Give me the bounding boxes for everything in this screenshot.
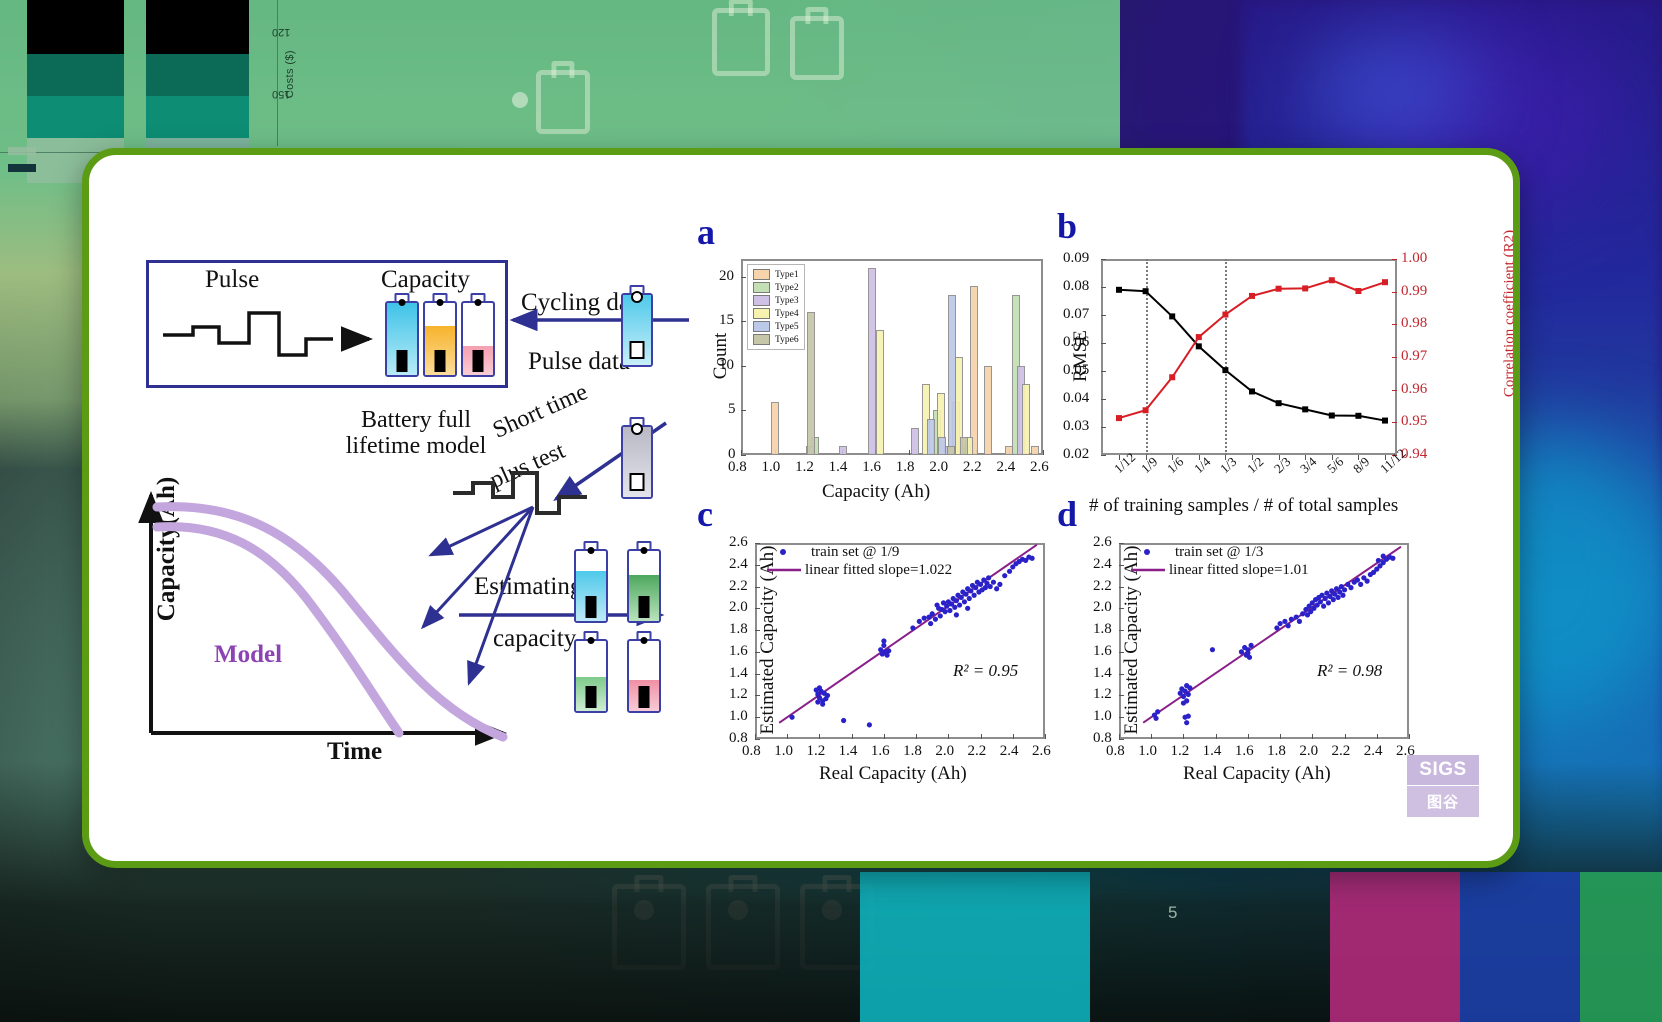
- panel-d-legend-label-2: linear fitted slope=1.01: [1169, 562, 1309, 579]
- battery-dot: [399, 299, 406, 306]
- panel-d-ytick-label: 1.0: [1093, 708, 1112, 725]
- panel-d-xtick-mark: [1345, 734, 1346, 739]
- sigs-logo: SIGS 图谷: [1407, 755, 1479, 817]
- panel-c-ytick-mark: [755, 674, 760, 675]
- panel-c-xtick-label: 2.6: [1032, 743, 1051, 760]
- battery-icon-pink-1: [461, 293, 495, 377]
- panel-c-xtick-mark: [916, 734, 917, 739]
- panel-d-r2-annotation: R² = 0.98: [1317, 661, 1382, 681]
- panel-c-ytick-label: 2.0: [729, 599, 748, 616]
- panel-a-legend-swatch: [753, 334, 770, 345]
- panel-a-legend-label: Type5: [775, 322, 799, 332]
- ghost-battery-dot-1: [512, 92, 528, 108]
- content-card: Pulse Capacity Cycling data Pulse data B…: [82, 148, 1520, 868]
- panel-d-ytick-mark: [1119, 608, 1124, 609]
- panel-d-ytick-mark: [1119, 674, 1124, 675]
- panel-a-letter: a: [697, 211, 715, 253]
- panel-c-ytick-label: 2.4: [729, 556, 748, 573]
- panel-d-xtick-mark: [1409, 734, 1410, 739]
- battery-block: [586, 686, 597, 708]
- panel-a-ytick-label: 5: [728, 401, 736, 418]
- panel-d-xtick-label: 2.2: [1332, 743, 1351, 760]
- mini-chart-ylabel: Costs ($): [284, 50, 296, 98]
- battery-block: [639, 686, 650, 708]
- panel-a-xtick-label: 2.2: [963, 459, 982, 476]
- panel-d-xtick-mark: [1377, 734, 1378, 739]
- panel-c-xtick-mark: [787, 734, 788, 739]
- panel-c-ytick-mark: [755, 695, 760, 696]
- panel-d-xtick-mark: [1183, 734, 1184, 739]
- panel-d-ytick-label: 1.6: [1093, 643, 1112, 660]
- panel-a-xtick-label: 2.6: [1030, 459, 1049, 476]
- panel-a-xtick-label: 1.8: [896, 459, 915, 476]
- panel-d-xtick-mark: [1280, 734, 1281, 739]
- panel-a-ytick-label: 15: [719, 312, 734, 329]
- panel-d-ytick-label: 0.8: [1093, 730, 1112, 747]
- panel-c-ytick-mark: [755, 543, 760, 544]
- panel-b-xtick-label: 3/4: [1297, 454, 1320, 477]
- panel-b-ytick-mark: [1101, 287, 1106, 288]
- panel-d-xtick-label: 1.0: [1138, 743, 1157, 760]
- panel-c-ytick-label: 1.2: [729, 686, 748, 703]
- panel-a-bar: [1022, 384, 1030, 455]
- panel-a-xtick-label: 1.6: [862, 459, 881, 476]
- panel-c-r2-annotation: R² = 0.95: [953, 661, 1018, 681]
- panel-b-y2tick-label: 0.99: [1401, 283, 1427, 300]
- panel-a-bar: [948, 295, 956, 455]
- panel-c-ytick-label: 1.6: [729, 643, 748, 660]
- panel-d-legend-label-1: train set @ 1/3: [1175, 544, 1263, 561]
- panel-b-xtick-label: 5/6: [1324, 454, 1347, 477]
- panel-c-xtick-mark: [884, 734, 885, 739]
- panel-b-ytick-mark: [1101, 455, 1106, 456]
- mini-chart-bar-teal-2: [146, 54, 249, 96]
- mini-chart-bar-teal-3: [27, 96, 124, 138]
- panel-a-bar: [911, 428, 919, 455]
- panel-b-y2tick-mark: [1392, 324, 1397, 325]
- panel-a-ytick-mark: [741, 410, 746, 411]
- panel-a-legend-label: Type6: [775, 335, 799, 345]
- battery-square: [630, 473, 645, 491]
- battery-block: [435, 350, 446, 372]
- ghost-battery-icon-3: [536, 70, 590, 134]
- panel-c-xtick-mark: [1045, 734, 1046, 739]
- panel-a-legend-label: Type2: [775, 283, 799, 293]
- panel-a-xtick-label: 1.4: [829, 459, 848, 476]
- panel-c-xtick-label: 1.6: [871, 743, 890, 760]
- slide-number: 5: [1168, 903, 1177, 923]
- panel-a-legend-row: Type1: [753, 268, 799, 281]
- panel-b-xtick-label: 8/9: [1350, 454, 1373, 477]
- panel-b-xlabel: # of training samples / # of total sampl…: [1089, 495, 1398, 517]
- mini-chart-legend-sw-2: [8, 164, 36, 172]
- panel-c-xtick-label: 2.2: [968, 743, 987, 760]
- panel-d-ytick-mark: [1119, 695, 1124, 696]
- panel-c-ytick-label: 2.2: [729, 578, 748, 595]
- panel-d-ytick-label: 2.6: [1093, 534, 1112, 551]
- panel-b-y2tick-mark: [1392, 390, 1397, 391]
- panel-a-legend-row: Type2: [753, 281, 799, 294]
- panel-a-xlabel: Capacity (Ah): [822, 481, 930, 503]
- panel-a-ytick-mark: [741, 321, 746, 322]
- panel-a-bar: [839, 446, 847, 455]
- panel-b-y2tick-mark: [1392, 422, 1397, 423]
- panel-a-ytick-label: 10: [719, 357, 734, 374]
- panel-a-xtick-mark: [1043, 450, 1044, 455]
- panel-b-ytick-mark: [1101, 371, 1106, 372]
- panel-a-legend-row: Type5: [753, 320, 799, 333]
- battery-icon-blue-1: [385, 293, 419, 377]
- panel-d-xtick-label: 1.6: [1235, 743, 1254, 760]
- panel-c-xtick-mark: [981, 734, 982, 739]
- panel-a-ytick-mark: [741, 455, 746, 456]
- panel-c-legend-label-2: linear fitted slope=1.022: [805, 562, 952, 579]
- battery-dot: [641, 547, 648, 554]
- panel-a-legend-swatch: [753, 321, 770, 332]
- mini-chart-bar-dark-1: [27, 0, 124, 54]
- panel-d-legend-line: [1131, 565, 1171, 575]
- battery-block: [639, 596, 650, 618]
- panel-c-xtick-label: 1.8: [903, 743, 922, 760]
- panel-d-xtick-mark: [1312, 734, 1313, 739]
- panel-b-ytick-mark: [1101, 259, 1106, 260]
- panel-c-ytick-mark: [755, 587, 760, 588]
- panel-c-ytick-mark: [755, 739, 760, 740]
- panel-a-bar: [771, 402, 779, 455]
- panel-c-legend-line: [767, 565, 807, 575]
- panel-c-xtick-mark: [819, 734, 820, 739]
- battery-icon-blue-2: [574, 541, 608, 623]
- panel-b-ytick-label: 0.06: [1063, 334, 1089, 351]
- panel-d-ytick-label: 1.8: [1093, 621, 1112, 638]
- panel-b-y2tick-label: 0.95: [1401, 413, 1427, 430]
- battery-dot: [641, 637, 648, 644]
- panel-b-letter: b: [1057, 205, 1077, 247]
- panel-b-y2tick-label: 0.98: [1401, 315, 1427, 332]
- panel-b-ytick-label: 0.05: [1063, 362, 1089, 379]
- panel-b-xtick-label: 1/3: [1217, 454, 1240, 477]
- panel-c-xtick-label: 1.0: [774, 743, 793, 760]
- panel-c-ytick-mark: [755, 717, 760, 718]
- mini-chart-legend-sw-1: [8, 147, 36, 155]
- panel-c-ytick-mark: [755, 630, 760, 631]
- mini-chart-axis: [277, 0, 278, 146]
- panel-c-xtick-label: 2.0: [935, 743, 954, 760]
- ghost-battery-icon-2: [790, 16, 844, 80]
- panel-b-ytick-label: 0.03: [1063, 418, 1089, 435]
- background-color-strip-teal: [860, 872, 1090, 1022]
- panel-d-ytick-mark: [1119, 630, 1124, 631]
- panel-b-ytick-mark: [1101, 399, 1106, 400]
- battery-icon-orange-1: [423, 293, 457, 377]
- panel-d-xtick-label: 1.2: [1170, 743, 1189, 760]
- panel-a-legend-row: Type6: [753, 333, 799, 346]
- panel-d-ytick-label: 2.2: [1093, 578, 1112, 595]
- panel-b-xtick-label: 1/6: [1164, 454, 1187, 477]
- panel-c-xtick-mark: [852, 734, 853, 739]
- panel-a-legend-swatch: [753, 295, 770, 306]
- panel-c-ytick-mark: [755, 608, 760, 609]
- panel-b-y2tick-label: 0.97: [1401, 348, 1427, 365]
- panel-d-ytick-mark: [1119, 543, 1124, 544]
- battery-icon-cyan-source: [621, 285, 653, 367]
- battery-block: [586, 596, 597, 618]
- battery-block: [473, 350, 484, 372]
- panel-c-xtick-label: 2.4: [1000, 743, 1019, 760]
- panel-d-xlabel: Real Capacity (Ah): [1183, 763, 1331, 785]
- panel-b-ytick-label: 0.07: [1063, 306, 1089, 323]
- panel-d-ytick-label: 1.4: [1093, 665, 1112, 682]
- panel-a-ytick-label: 0: [728, 446, 736, 463]
- panel-b-y2tick-mark: [1392, 259, 1397, 260]
- battery-dot: [475, 299, 482, 306]
- sigs-logo-text-bottom: 图谷: [1407, 786, 1479, 817]
- battery-dot: [588, 637, 595, 644]
- panel-b-xtick-label: 2/3: [1271, 454, 1294, 477]
- panel-c-ytick-label: 1.0: [729, 708, 748, 725]
- panel-a-bar: [868, 268, 876, 455]
- ghost-battery-icon-1: [712, 8, 770, 76]
- panel-c-xlabel: Real Capacity (Ah): [819, 763, 967, 785]
- panel-d-ytick-label: 2.0: [1093, 599, 1112, 616]
- panel-c-ytick-mark: [755, 565, 760, 566]
- panel-b-ylabel: RMSE: [1070, 316, 1092, 396]
- panel-a-bar: [876, 330, 884, 455]
- panel-a-xtick-label: 2.4: [996, 459, 1015, 476]
- panel-d-legend-marker: [1143, 547, 1155, 557]
- panel-d-xtick-label: 2.0: [1299, 743, 1318, 760]
- panel-d-ytick-mark: [1119, 652, 1124, 653]
- panel-b-ytick-mark: [1101, 427, 1106, 428]
- panel-d-letter: d: [1057, 493, 1077, 535]
- panel-a-legend-swatch: [753, 308, 770, 319]
- battery-icon-green-1: [627, 541, 661, 623]
- panel-a-legend-row: Type3: [753, 294, 799, 307]
- background-color-strip-green: [1580, 872, 1662, 1022]
- panel-a-legend-row: Type4: [753, 307, 799, 320]
- battery-dot: [437, 299, 444, 306]
- panel-c-ytick-mark: [755, 652, 760, 653]
- panel-c-ytick-label: 2.6: [729, 534, 748, 551]
- panel-d-ytick-mark: [1119, 739, 1124, 740]
- panel-b-reference-line: [1146, 259, 1148, 455]
- panel-a-legend-swatch: [753, 269, 770, 280]
- mini-chart-bar-dark-2: [146, 0, 249, 54]
- battery-icon-gray-source: [621, 417, 653, 499]
- panel-d-ytick-label: 2.4: [1093, 556, 1112, 573]
- panel-b-ytick-label: 0.08: [1063, 278, 1089, 295]
- panel-a-legend-label: Type1: [775, 270, 799, 280]
- battery-square: [630, 341, 645, 359]
- panel-a-bar: [970, 286, 978, 455]
- panel-c-xtick-label: 1.2: [806, 743, 825, 760]
- battery-icon-green-2: [574, 631, 608, 713]
- panel-b-y2label: Correlation coefficient (R2): [1502, 199, 1519, 429]
- panel-b-y2tick-mark: [1392, 357, 1397, 358]
- panel-c-ytick-label: 0.8: [729, 730, 748, 747]
- schematic-diagram: Pulse Capacity Cycling data Pulse data B…: [101, 155, 691, 861]
- panel-b-xtick-label: 1/9: [1138, 454, 1161, 477]
- panel-c-xtick-label: 1.4: [839, 743, 858, 760]
- panel-b-ytick-mark: [1101, 343, 1106, 344]
- battery-ring: [631, 423, 643, 435]
- schematic-vectors: [101, 155, 691, 861]
- panel-b-xtick-label: 1/4: [1191, 454, 1214, 477]
- panel-b-ytick-mark: [1101, 315, 1106, 316]
- panel-c-ytick-label: 1.8: [729, 621, 748, 638]
- battery-dot: [588, 547, 595, 554]
- panel-a-xtick-label: 1.2: [795, 459, 814, 476]
- background-glow-blue: [1300, 30, 1480, 150]
- panel-a-xtick-label: 1.0: [762, 459, 781, 476]
- panel-b-y2tick-mark: [1392, 292, 1397, 293]
- panel-b-ytick-label: 0.04: [1063, 390, 1089, 407]
- panel-c-legend-marker: [779, 547, 791, 557]
- panel-d-ylabel: Estimated Capacity (Ah): [1121, 525, 1143, 755]
- panel-c-xtick-mark: [1013, 734, 1014, 739]
- panel-b-y2tick-label: 1.00: [1401, 250, 1427, 267]
- battery-ring: [631, 291, 643, 303]
- panel-a-xtick-mark: [909, 450, 910, 455]
- panel-d-xtick-mark: [1151, 734, 1152, 739]
- panel-d-ytick-mark: [1119, 587, 1124, 588]
- panel-a-xtick-label: 2.0: [929, 459, 948, 476]
- mini-chart-tick-120: 120: [272, 26, 290, 38]
- panel-a-bar: [927, 419, 935, 455]
- panel-b-xtick-label: 1/2: [1244, 454, 1267, 477]
- panel-b-ytick-label: 0.02: [1063, 446, 1089, 463]
- battery-icon-pink-2: [627, 631, 661, 713]
- panel-a-ytick-mark: [741, 277, 746, 278]
- panel-a-legend: Type1Type2Type3Type4Type5Type6: [747, 264, 805, 350]
- mini-chart-bar-teal-1: [27, 54, 124, 96]
- panel-c-ylabel: Estimated Capacity (Ah): [757, 525, 779, 755]
- panel-a-bar: [984, 366, 992, 455]
- panel-a-bar: [807, 312, 815, 455]
- panel-b-reference-line: [1225, 259, 1227, 455]
- panel-a-bar: [1031, 446, 1039, 455]
- panel-c-ytick-label: 1.4: [729, 665, 748, 682]
- panel-d-xtick-mark: [1248, 734, 1249, 739]
- battery-block: [397, 350, 408, 372]
- panel-d-xtick-label: 2.4: [1364, 743, 1383, 760]
- panel-b-ytick-label: 0.09: [1063, 250, 1089, 267]
- panel-b-y2tick-label: 0.96: [1401, 381, 1427, 398]
- mini-chart-bar-teal-4: [146, 96, 249, 138]
- panel-d-xtick-mark: [1216, 734, 1217, 739]
- panel-a-bar: [947, 446, 955, 455]
- panel-d-xtick-label: 1.4: [1203, 743, 1222, 760]
- panel-a-legend-label: Type3: [775, 296, 799, 306]
- panel-c-letter: c: [697, 493, 713, 535]
- background-color-strip-blue: [1460, 872, 1580, 1022]
- panel-a-ytick-label: 20: [719, 268, 734, 285]
- panel-a-legend-label: Type4: [775, 309, 799, 319]
- panel-c-legend-label-1: train set @ 1/9: [811, 544, 899, 561]
- panel-d-ytick-label: 1.2: [1093, 686, 1112, 703]
- panel-d-ytick-mark: [1119, 565, 1124, 566]
- panel-a-legend-swatch: [753, 282, 770, 293]
- panel-a-bar: [938, 437, 946, 455]
- panel-a-bar: [960, 437, 968, 455]
- panel-d-xtick-label: 1.8: [1267, 743, 1286, 760]
- panel-d-ytick-mark: [1119, 717, 1124, 718]
- panel-c-xtick-mark: [948, 734, 949, 739]
- background-color-strip-magenta: [1330, 872, 1460, 1022]
- panel-a-ytick-mark: [741, 366, 746, 367]
- sigs-logo-text-top: SIGS: [1407, 755, 1479, 785]
